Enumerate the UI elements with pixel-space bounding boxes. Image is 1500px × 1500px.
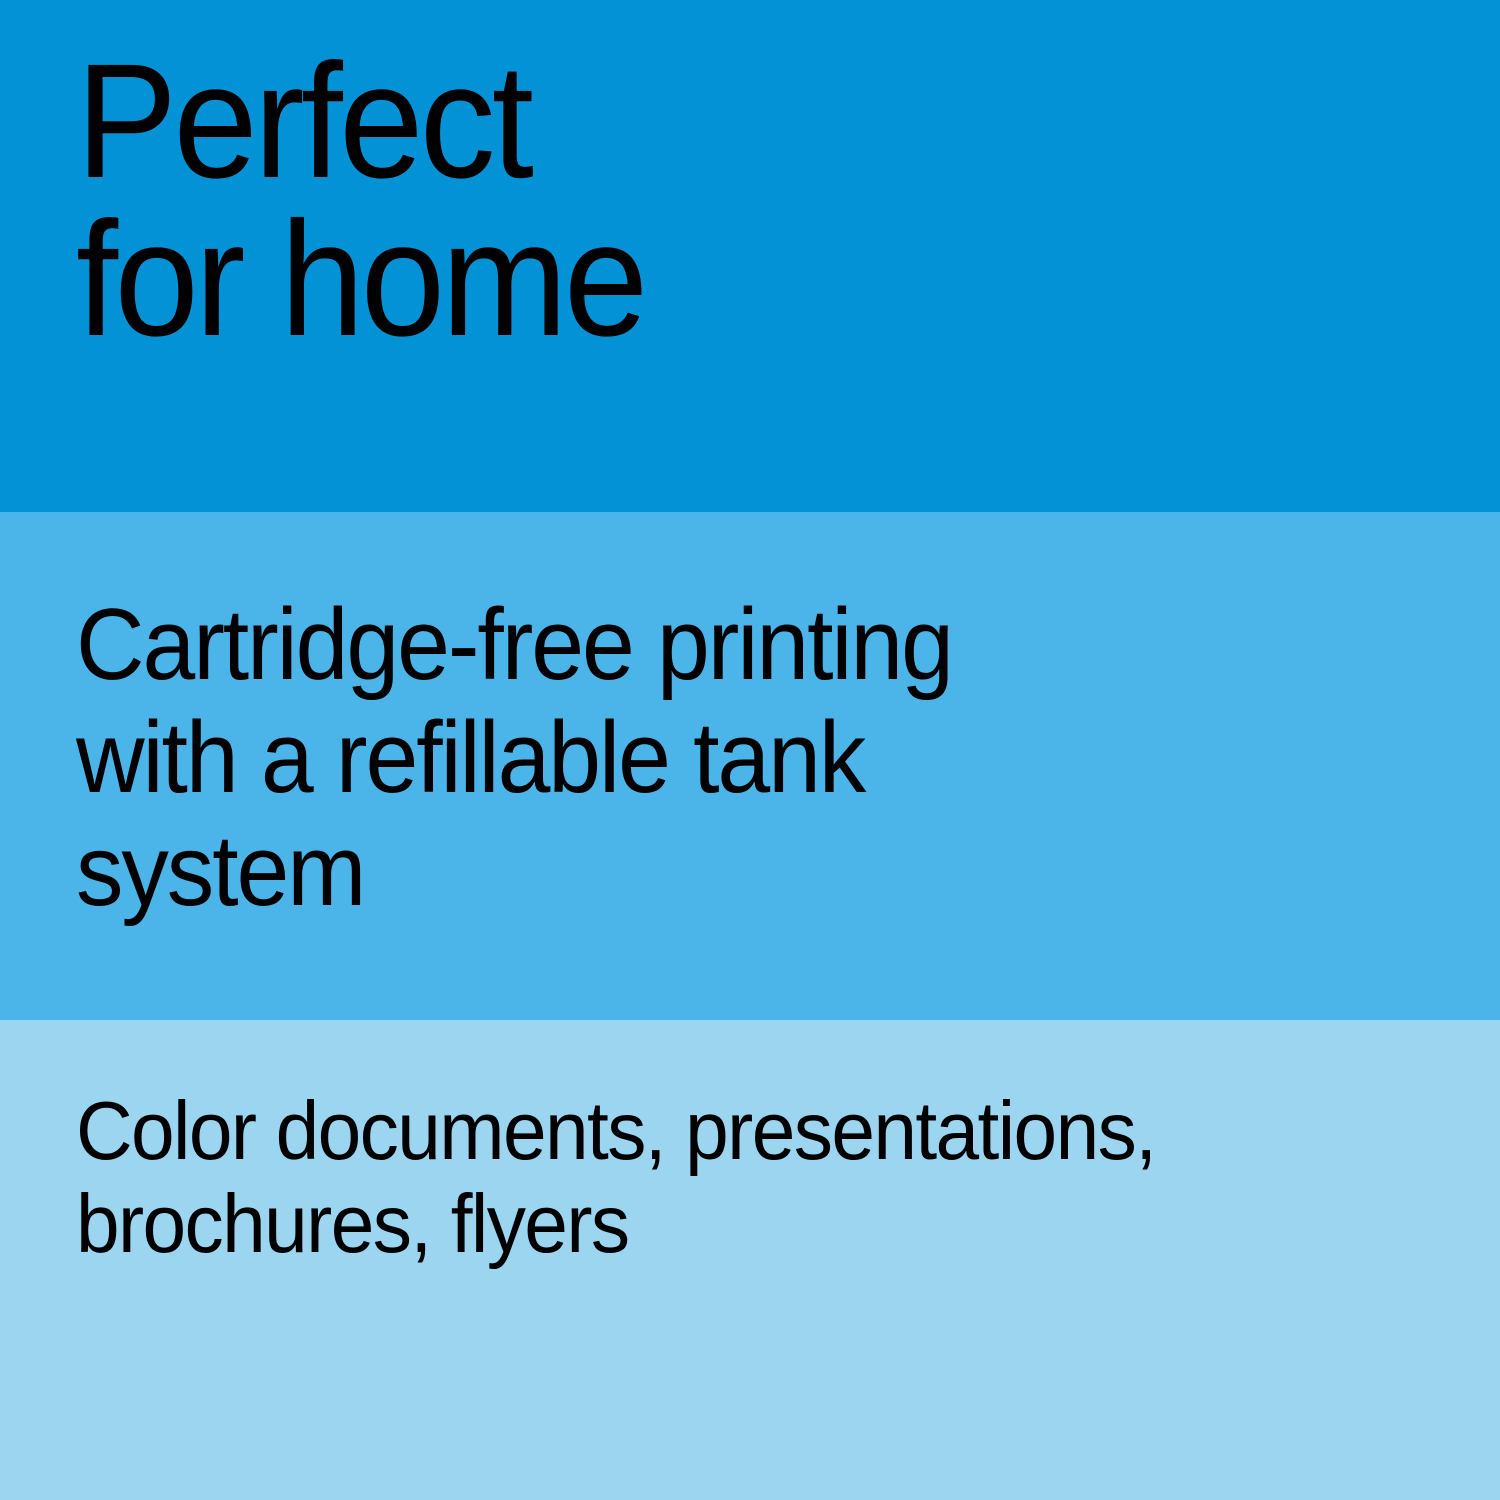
subhead-text: Cartridge-free printing with a refillabl… [76,589,952,928]
banner-band-detail: Color documents, presentations, brochure… [0,1020,1500,1500]
headline-text: Perfect for home [76,42,644,358]
banner-band-subhead: Cartridge-free printing with a refillabl… [0,512,1500,1020]
detail-text: Color documents, presentations, brochure… [76,1085,1155,1271]
feature-banner: Perfect for home Cartridge-free printing… [0,0,1500,1500]
banner-band-headline: Perfect for home [0,0,1500,512]
